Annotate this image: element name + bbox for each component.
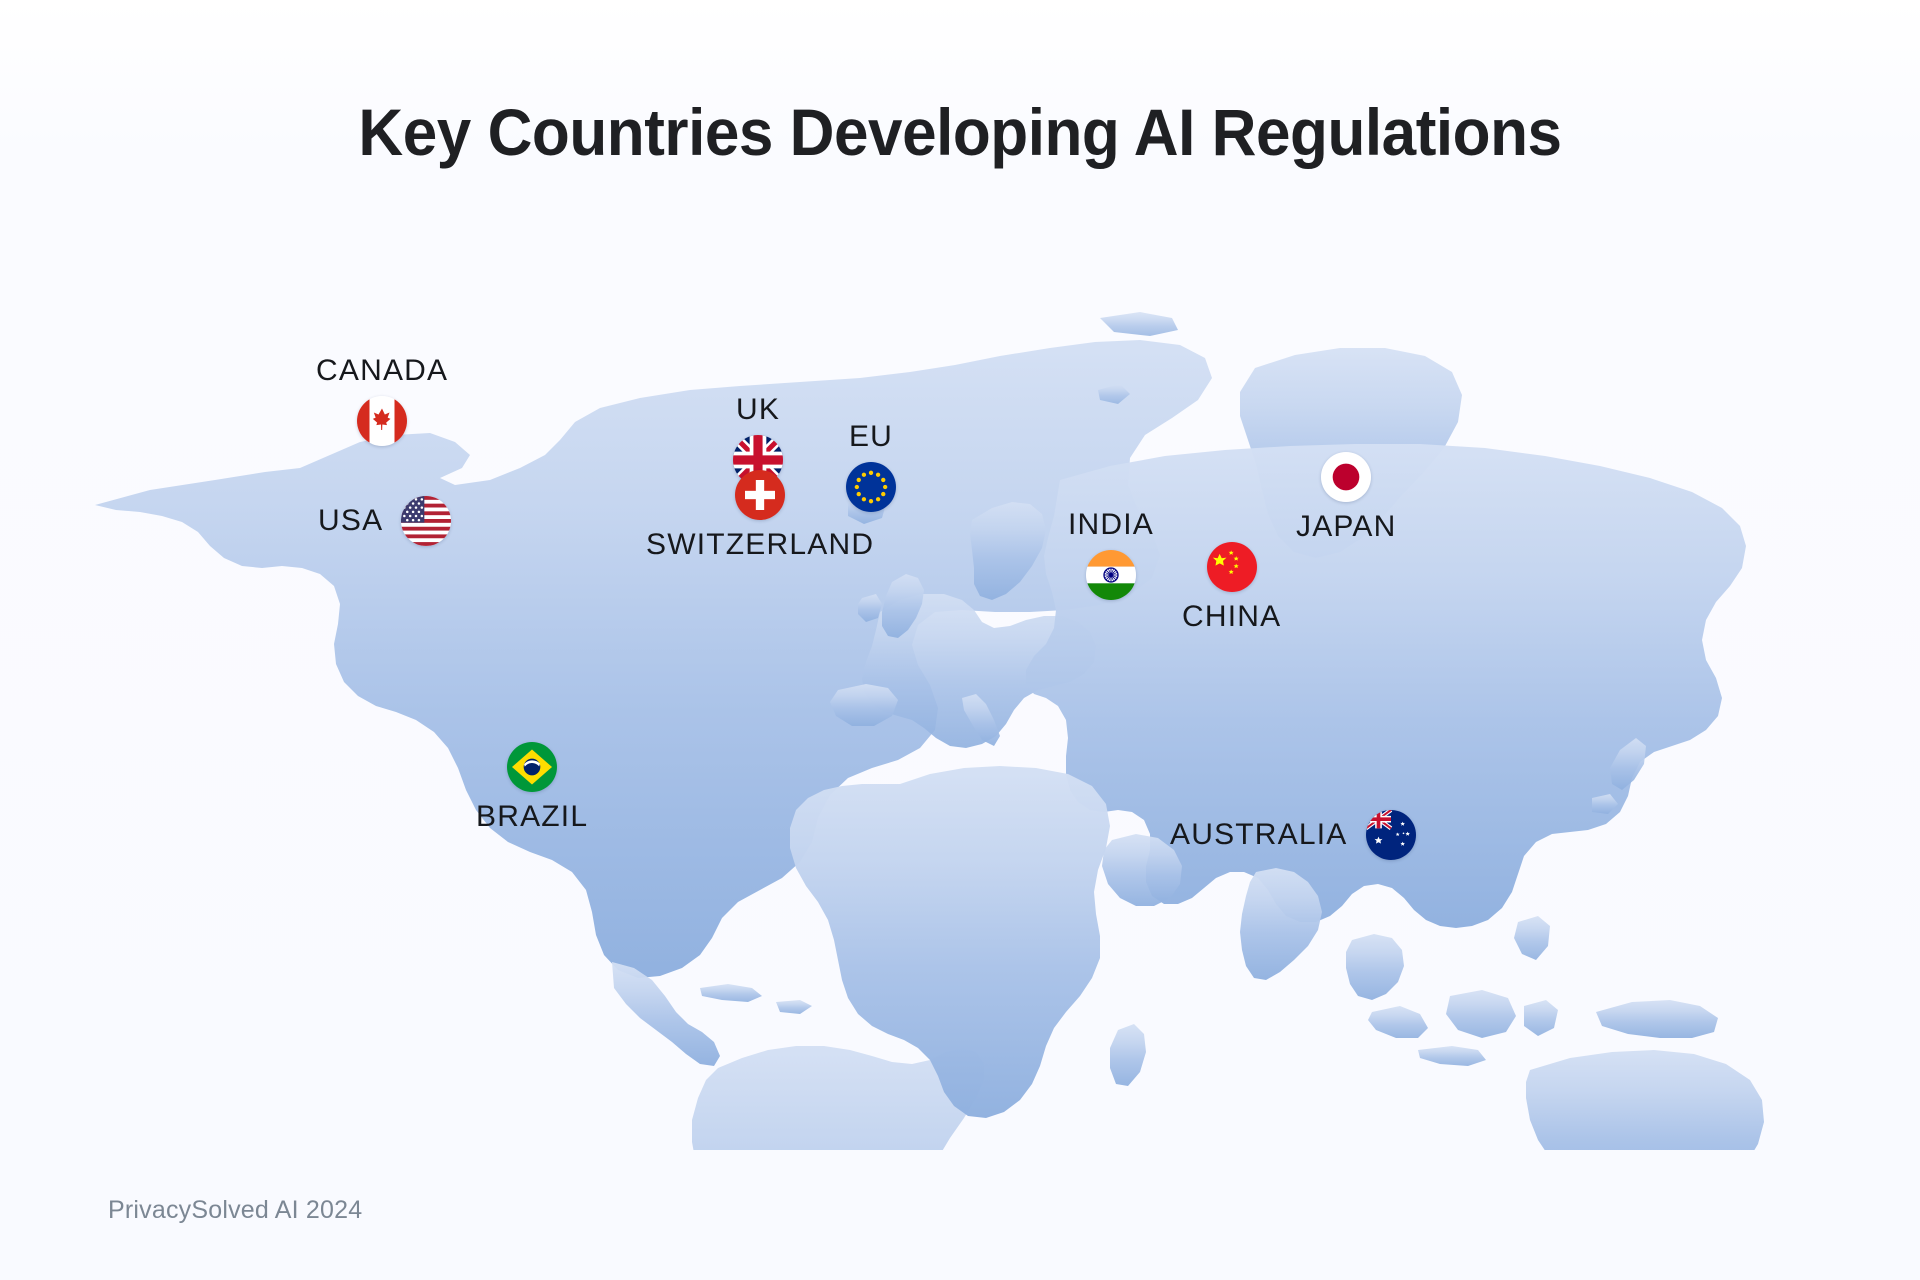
land-india bbox=[1240, 868, 1322, 980]
flag-canada-icon bbox=[357, 396, 407, 446]
marker-usa[interactable]: USA bbox=[318, 496, 451, 546]
marker-label-india: INDIA bbox=[1068, 510, 1154, 540]
land-caribbean bbox=[700, 984, 762, 1002]
land-madagascar bbox=[1110, 1024, 1146, 1086]
marker-label-australia: AUSTRALIA bbox=[1170, 820, 1348, 850]
marker-china[interactable]: CHINA bbox=[1182, 542, 1281, 632]
marker-label-canada: CANADA bbox=[316, 356, 448, 386]
flag-australia-icon bbox=[1366, 810, 1416, 860]
marker-japan[interactable]: JAPAN bbox=[1296, 452, 1396, 542]
land-sulawesi bbox=[1524, 1000, 1558, 1036]
flag-india-icon bbox=[1086, 550, 1136, 600]
land-new-guinea bbox=[1596, 1000, 1718, 1038]
marker-label-uk: UK bbox=[736, 395, 780, 425]
land-central-america bbox=[612, 962, 720, 1066]
marker-label-eu: EU bbox=[849, 422, 893, 452]
world-map-container: CANADA USA bbox=[0, 150, 1920, 1150]
flag-japan-icon bbox=[1321, 452, 1371, 502]
marker-canada[interactable]: CANADA bbox=[316, 356, 448, 446]
land-philippines bbox=[1514, 916, 1550, 960]
flag-usa-icon bbox=[401, 496, 451, 546]
land-sumatra bbox=[1368, 1006, 1428, 1038]
marker-label-usa: USA bbox=[318, 506, 383, 536]
world-map-graphic bbox=[0, 150, 1920, 1150]
land-hispaniola bbox=[776, 1000, 812, 1014]
credit-text: PrivacySolved AI 2024 bbox=[108, 1196, 362, 1225]
land-southeast-asia bbox=[1346, 934, 1404, 1000]
flag-china-icon bbox=[1207, 542, 1257, 592]
land-borneo bbox=[1446, 990, 1516, 1038]
marker-brazil[interactable]: BRAZIL bbox=[476, 742, 588, 832]
infographic-page: Key Countries Developing AI Regulations bbox=[0, 0, 1920, 1280]
marker-australia[interactable]: AUSTRALIA bbox=[1170, 810, 1416, 860]
marker-india[interactable]: INDIA bbox=[1068, 510, 1154, 600]
flag-switzerland-icon bbox=[735, 470, 785, 520]
land-australia bbox=[1526, 1050, 1764, 1150]
marker-switzerland[interactable]: SWITZERLAND bbox=[646, 470, 874, 560]
marker-label-china: CHINA bbox=[1182, 602, 1281, 632]
land-java bbox=[1418, 1046, 1486, 1066]
marker-label-japan: JAPAN bbox=[1296, 512, 1396, 542]
land-arctic-islands bbox=[1100, 312, 1178, 336]
marker-label-brazil: BRAZIL bbox=[476, 802, 588, 832]
marker-label-switzerland: SWITZERLAND bbox=[646, 530, 874, 560]
flag-brazil-icon bbox=[507, 742, 557, 792]
